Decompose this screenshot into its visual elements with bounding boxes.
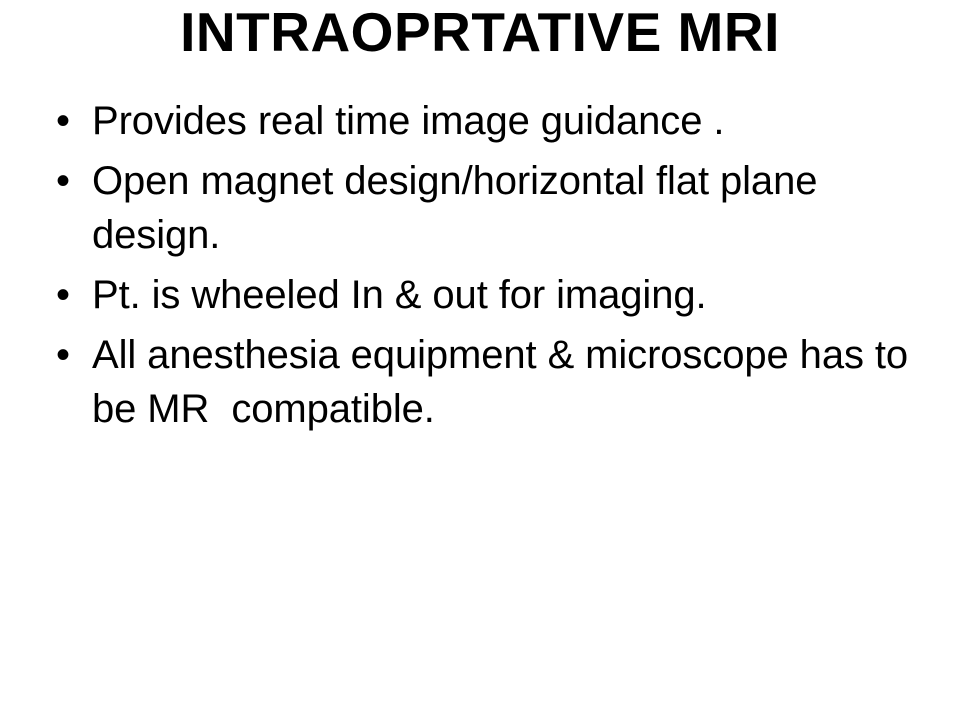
- list-item-text: Pt. is wheeled In & out for imaging.: [92, 268, 928, 322]
- bullet-point-icon: •: [48, 154, 92, 208]
- list-item[interactable]: • Pt. is wheeled In & out for imaging.: [48, 268, 928, 322]
- list-item[interactable]: • Open magnet design/horizontal flat pla…: [48, 154, 928, 262]
- bullet-point-icon: •: [48, 94, 92, 148]
- page-title: INTRAOPRTATIVE MRI: [0, 1, 960, 63]
- list-item[interactable]: • All anesthesia equipment & microscope …: [48, 328, 928, 436]
- bullet-point-icon: •: [48, 328, 92, 382]
- bullet-point-icon: •: [48, 268, 92, 322]
- bullet-list: • Provides real time image guidance . • …: [48, 94, 928, 442]
- list-item-text: All anesthesia equipment & microscope ha…: [92, 328, 928, 436]
- presentation-slide: INTRAOPRTATIVE MRI • Provides real time …: [0, 0, 960, 720]
- list-item[interactable]: • Provides real time image guidance .: [48, 94, 928, 148]
- list-item-text: Open magnet design/horizontal flat plane…: [92, 154, 928, 262]
- list-item-text: Provides real time image guidance .: [92, 94, 928, 148]
